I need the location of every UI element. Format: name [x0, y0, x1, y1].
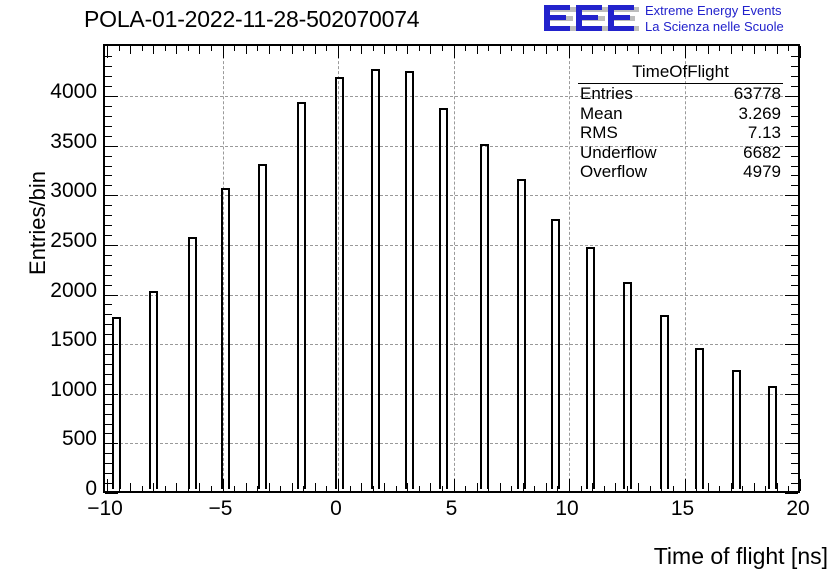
y-tick-label: 4000 [0, 80, 97, 104]
stats-key: Mean [580, 104, 623, 124]
histogram-bar [335, 77, 344, 489]
eee-mark-icon [541, 3, 641, 35]
stats-value: 6682 [743, 143, 781, 163]
histogram-bar [586, 247, 595, 489]
y-tick-label: 2500 [0, 229, 97, 253]
eee-logo-line1: Extreme Energy Events [645, 3, 784, 19]
histogram-bar [480, 144, 489, 489]
stats-value: 7.13 [748, 123, 781, 143]
stats-row: Mean3.269 [578, 104, 783, 124]
histogram-bar [623, 282, 632, 489]
histogram-canvas: POLA-01-2022-11-28-502070074 [0, 0, 836, 572]
x-tick-label: −5 [181, 497, 261, 521]
axis-tick [785, 493, 798, 494]
stats-box: TimeOfFlight Entries63778Mean3.269RMS7.1… [578, 62, 783, 182]
x-tick-label: −10 [65, 497, 145, 521]
stats-row: Overflow4979 [578, 162, 783, 182]
histogram-bar [112, 317, 121, 489]
axis-tick [105, 493, 118, 494]
histogram-bar [732, 370, 741, 489]
histogram-bar [517, 179, 526, 489]
y-tick-label: 3000 [0, 179, 97, 203]
page-title: POLA-01-2022-11-28-502070074 [84, 6, 419, 33]
histogram-bar [221, 188, 230, 489]
stats-value: 4979 [743, 162, 781, 182]
x-axis-label: Time of flight [ns] [654, 543, 828, 570]
x-tick-label: 0 [296, 497, 376, 521]
y-tick-label: 1500 [0, 328, 97, 352]
y-tick-label: 500 [0, 427, 97, 451]
histogram-bar [439, 108, 448, 489]
stats-key: RMS [580, 123, 618, 143]
stats-value: 3.269 [738, 104, 781, 124]
axis-tick [800, 46, 801, 58]
stats-value: 63778 [734, 84, 781, 104]
y-tick-label: 3500 [0, 130, 97, 154]
x-tick-label: 15 [643, 497, 723, 521]
axis-tick [800, 479, 801, 491]
stats-row: Entries63778 [578, 84, 783, 104]
histogram-bar [258, 164, 267, 489]
histogram-bar [551, 219, 560, 489]
stats-row: Underflow6682 [578, 143, 783, 163]
x-tick-label: 5 [412, 497, 492, 521]
histogram-bar [660, 315, 669, 489]
histogram-bar [297, 102, 306, 489]
eee-logo-text: Extreme Energy Events La Scienza nelle S… [645, 3, 784, 34]
eee-logo-line2: La Scienza nelle Scuole [645, 19, 784, 35]
histogram-bar [695, 348, 704, 489]
y-tick-label: 1000 [0, 378, 97, 402]
stats-key: Entries [580, 84, 633, 104]
eee-logo: Extreme Energy Events La Scienza nelle S… [541, 2, 835, 36]
histogram-bar [768, 386, 777, 489]
y-tick-label: 2000 [0, 279, 97, 303]
histogram-bar [188, 237, 197, 489]
histogram-bar [371, 69, 380, 489]
stats-key: Underflow [580, 143, 657, 163]
stats-key: Overflow [580, 162, 647, 182]
x-tick-label: 20 [758, 497, 836, 521]
stats-rows: Entries63778Mean3.269RMS7.13Underflow668… [578, 84, 783, 182]
stats-title: TimeOfFlight [578, 62, 783, 84]
x-tick-label: 10 [527, 497, 607, 521]
histogram-bar [405, 71, 414, 489]
histogram-bar [149, 291, 158, 489]
stats-row: RMS7.13 [578, 123, 783, 143]
